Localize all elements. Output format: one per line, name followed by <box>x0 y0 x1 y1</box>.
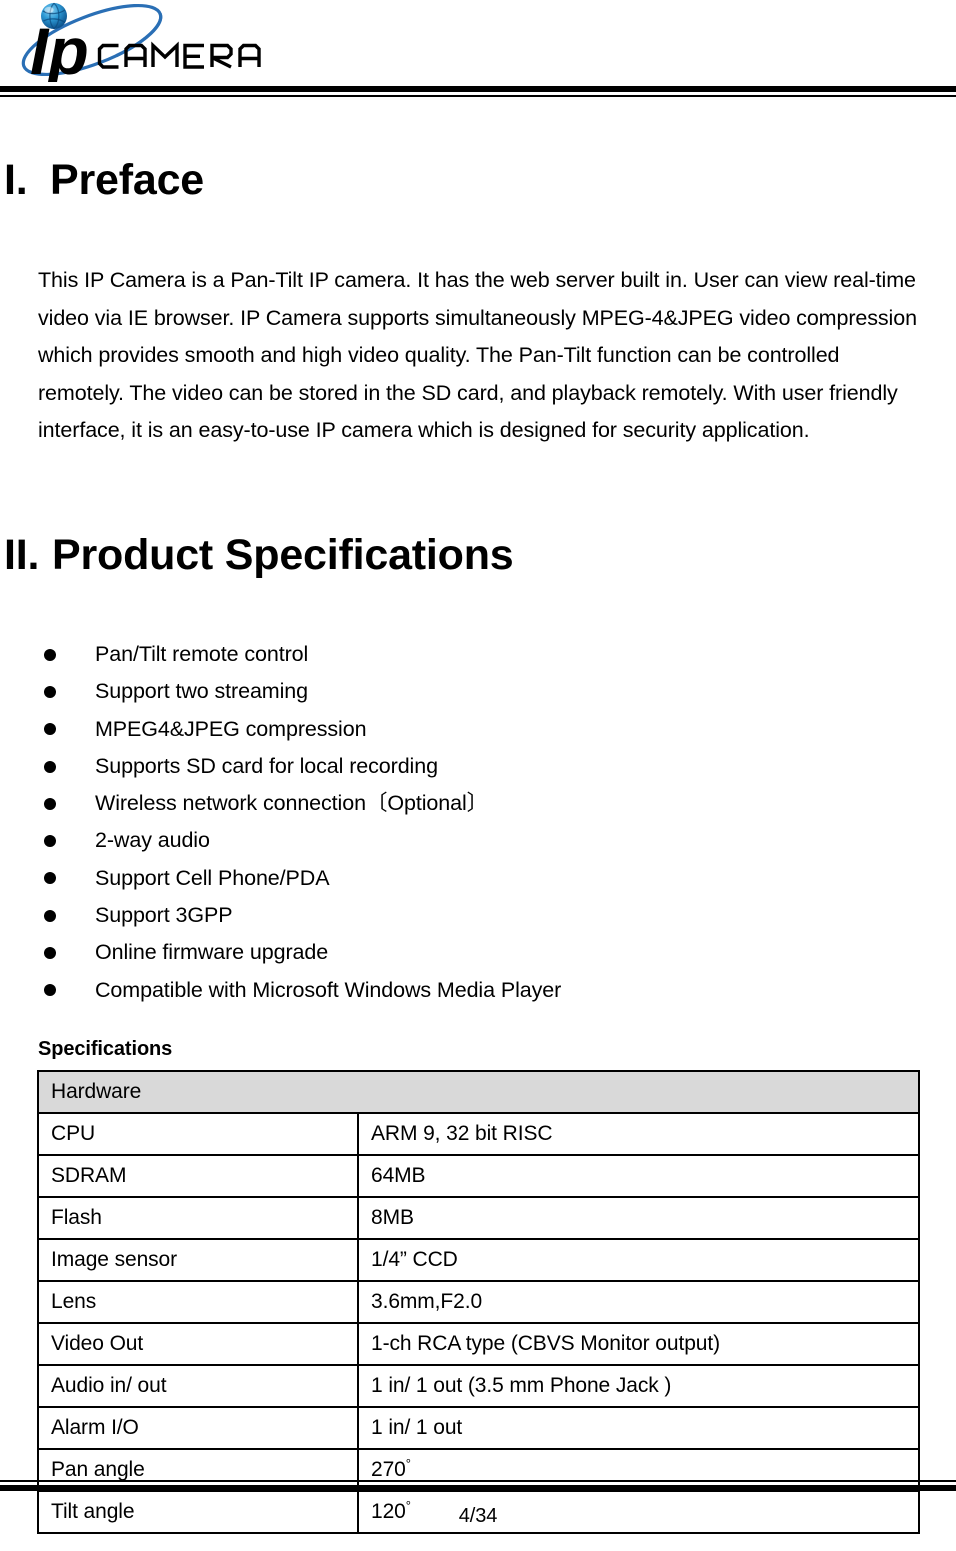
bullet-icon <box>44 649 56 661</box>
list-item-label: Support two streaming <box>95 679 308 703</box>
bullet-icon <box>44 947 56 959</box>
specifications-table: Hardware CPU ARM 9, 32 bit RISC SDRAM 64… <box>37 1070 920 1534</box>
bullet-icon <box>44 761 56 773</box>
table-row: Flash 8MB <box>38 1197 919 1239</box>
table-row: CPU ARM 9, 32 bit RISC <box>38 1113 919 1155</box>
table-cell-value: 3.6mm,F2.0 <box>358 1281 919 1323</box>
list-item-label: Supports SD card for local recording <box>95 754 438 778</box>
table-cell-value-number: 270 <box>371 1458 406 1481</box>
table-cell-label: CPU <box>38 1113 358 1155</box>
list-item: Supports SD card for local recording <box>0 748 956 785</box>
table-cell-value: 1/4” CCD <box>358 1239 919 1281</box>
heading-product-specifications: II. Product Specifications <box>4 533 514 578</box>
logo-ip-text: Ip <box>30 14 89 82</box>
table-cell-label: Alarm I/O <box>38 1407 358 1449</box>
footer-rule-thin <box>0 1480 956 1482</box>
table-cell-label: Audio in/ out <box>38 1365 358 1407</box>
table-row: Lens 3.6mm,F2.0 <box>38 1281 919 1323</box>
bullet-icon <box>44 686 56 698</box>
table-row: Video Out 1-ch RCA type (CBVS Monitor ou… <box>38 1323 919 1365</box>
logo-camera-text <box>100 46 260 68</box>
table-cell-label: SDRAM <box>38 1155 358 1197</box>
list-item-label: MPEG4&JPEG compression <box>95 717 366 741</box>
preface-paragraph: This IP Camera is a Pan-Tilt IP camera. … <box>38 262 918 450</box>
page-header: Ip <box>0 0 956 100</box>
list-item-label: 2-way audio <box>95 828 210 852</box>
list-item: Compatible with Microsoft Windows Media … <box>0 972 956 1009</box>
table-group-header-cell: Hardware <box>38 1071 919 1113</box>
table-cell-value: 64MB <box>358 1155 919 1197</box>
table-cell-value: 8MB <box>358 1197 919 1239</box>
table-cell-label: Flash <box>38 1197 358 1239</box>
table-cell-value: ARM 9, 32 bit RISC <box>358 1113 919 1155</box>
list-item: 2-way audio <box>0 822 956 859</box>
table-row: Image sensor 1/4” CCD <box>38 1239 919 1281</box>
bullet-icon <box>44 984 56 996</box>
table-cell-label: Video Out <box>38 1323 358 1365</box>
list-item-label: Pan/Tilt remote control <box>95 642 308 666</box>
logo-artwork: Ip <box>14 0 284 82</box>
list-item-label: Wireless network connection〔Optional〕 <box>95 791 488 815</box>
heading-preface-number: I. <box>4 158 50 203</box>
heading-preface-title: Preface <box>50 158 204 203</box>
list-item-label: Online firmware upgrade <box>95 940 328 964</box>
list-item: Online firmware upgrade <box>0 934 956 971</box>
list-item-label: Compatible with Microsoft Windows Media … <box>95 978 561 1002</box>
document-page: Ip <box>0 0 956 1551</box>
table-row: Audio in/ out 1 in/ 1 out (3.5 mm Phone … <box>38 1365 919 1407</box>
bullet-icon <box>44 835 56 847</box>
table-row-group-header: Hardware <box>38 1071 919 1113</box>
list-item-label: Support 3GPP <box>95 903 232 927</box>
page-number: 4/34 <box>0 1505 956 1528</box>
bullet-icon <box>44 723 56 735</box>
header-rule-thin <box>0 95 956 97</box>
heading-preface: I. Preface <box>4 158 204 203</box>
table-cell-label: Image sensor <box>38 1239 358 1281</box>
table-cell-value: 1 in/ 1 out <box>358 1407 919 1449</box>
list-item: Support two streaming <box>0 673 956 710</box>
table-row: SDRAM 64MB <box>38 1155 919 1197</box>
table-cell-value: 1 in/ 1 out (3.5 mm Phone Jack ) <box>358 1365 919 1407</box>
heading-product-specifications-title: Product Specifications <box>52 533 514 578</box>
ip-camera-logo: Ip <box>14 0 284 82</box>
bullet-icon <box>44 910 56 922</box>
footer-rule-thick <box>0 1485 956 1491</box>
table-cell-value: 1-ch RCA type (CBVS Monitor output) <box>358 1323 919 1365</box>
table-row: Alarm I/O 1 in/ 1 out <box>38 1407 919 1449</box>
list-item: Wireless network connection〔Optional〕 <box>0 785 956 822</box>
footer-divider-rule <box>0 1480 956 1494</box>
list-item: Support Cell Phone/PDA <box>0 860 956 897</box>
list-item: Pan/Tilt remote control <box>0 636 956 673</box>
header-divider-rule <box>0 86 956 100</box>
bullet-icon <box>44 798 56 810</box>
table-cell-label: Lens <box>38 1281 358 1323</box>
header-rule-thick <box>0 86 956 92</box>
list-item-label: Support Cell Phone/PDA <box>95 866 329 890</box>
list-item: Support 3GPP <box>0 897 956 934</box>
list-item: MPEG4&JPEG compression <box>0 711 956 748</box>
feature-list: Pan/Tilt remote control Support two stre… <box>0 636 956 1009</box>
degree-unit: ° <box>406 1456 411 1471</box>
heading-product-specifications-number: II. <box>4 533 52 578</box>
specifications-caption: Specifications <box>38 1038 172 1061</box>
bullet-icon <box>44 872 56 884</box>
